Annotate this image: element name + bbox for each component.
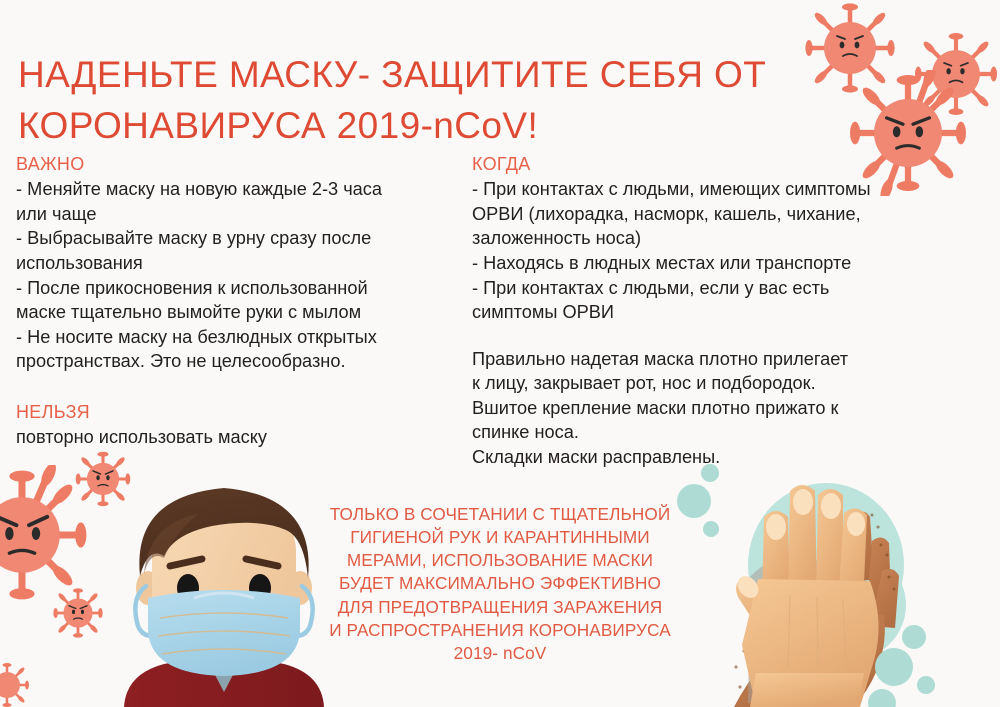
soap-bubble — [701, 464, 719, 482]
soap-bubble — [677, 484, 711, 518]
soap-bubble — [868, 689, 896, 707]
page-title: НАДЕНЬТЕ МАСКУ- ЗАЩИТИТЕ СЕБЯ ОТ КОРОНАВ… — [18, 49, 808, 151]
section-body-mask-fit: Правильно надетая маска плотно прилегает… — [472, 347, 954, 470]
section-spacer — [16, 374, 468, 400]
center-caption-text: ТОЛЬКО В СОЧЕТАНИИ С ТЩАТЕЛЬНОЙ ГИГИЕНОЙ… — [300, 503, 700, 665]
section-spacer — [472, 325, 954, 347]
soap-bubble — [875, 648, 913, 686]
right-text-column: КОГДА - При контактах с людьми, имеющих … — [472, 152, 954, 469]
handwashing-illustration — [676, 455, 1000, 707]
soap-bubble — [917, 676, 935, 694]
boy-with-mask-illustration — [108, 478, 340, 707]
section-heading-vazhno: ВАЖНО — [16, 152, 468, 176]
soap-bubble — [902, 625, 926, 649]
coronavirus-icon — [800, 0, 900, 98]
coronavirus-icon — [50, 585, 106, 641]
coronavirus-icon — [0, 465, 92, 605]
poster-canvas: НАДЕНЬТЕ МАСКУ- ЗАЩИТИТЕ СЕБЯ ОТ КОРОНАВ… — [0, 0, 1000, 707]
coronavirus-icon — [0, 660, 32, 707]
section-body-kogda: - При контактах с людьми, имеющих симпто… — [472, 177, 954, 324]
soap-bubble — [703, 521, 719, 537]
section-heading-nelzya: НЕЛЬЗЯ — [16, 400, 468, 424]
section-body-vazhno: - Меняйте маску на новую каждые 2-3 часа… — [16, 177, 468, 374]
left-text-column: ВАЖНО - Меняйте маску на новую каждые 2-… — [16, 152, 468, 450]
section-body-nelzya: повторно использовать маску — [16, 425, 468, 450]
coronavirus-icon — [910, 28, 1000, 120]
section-heading-kogda: КОГДА — [472, 152, 954, 176]
